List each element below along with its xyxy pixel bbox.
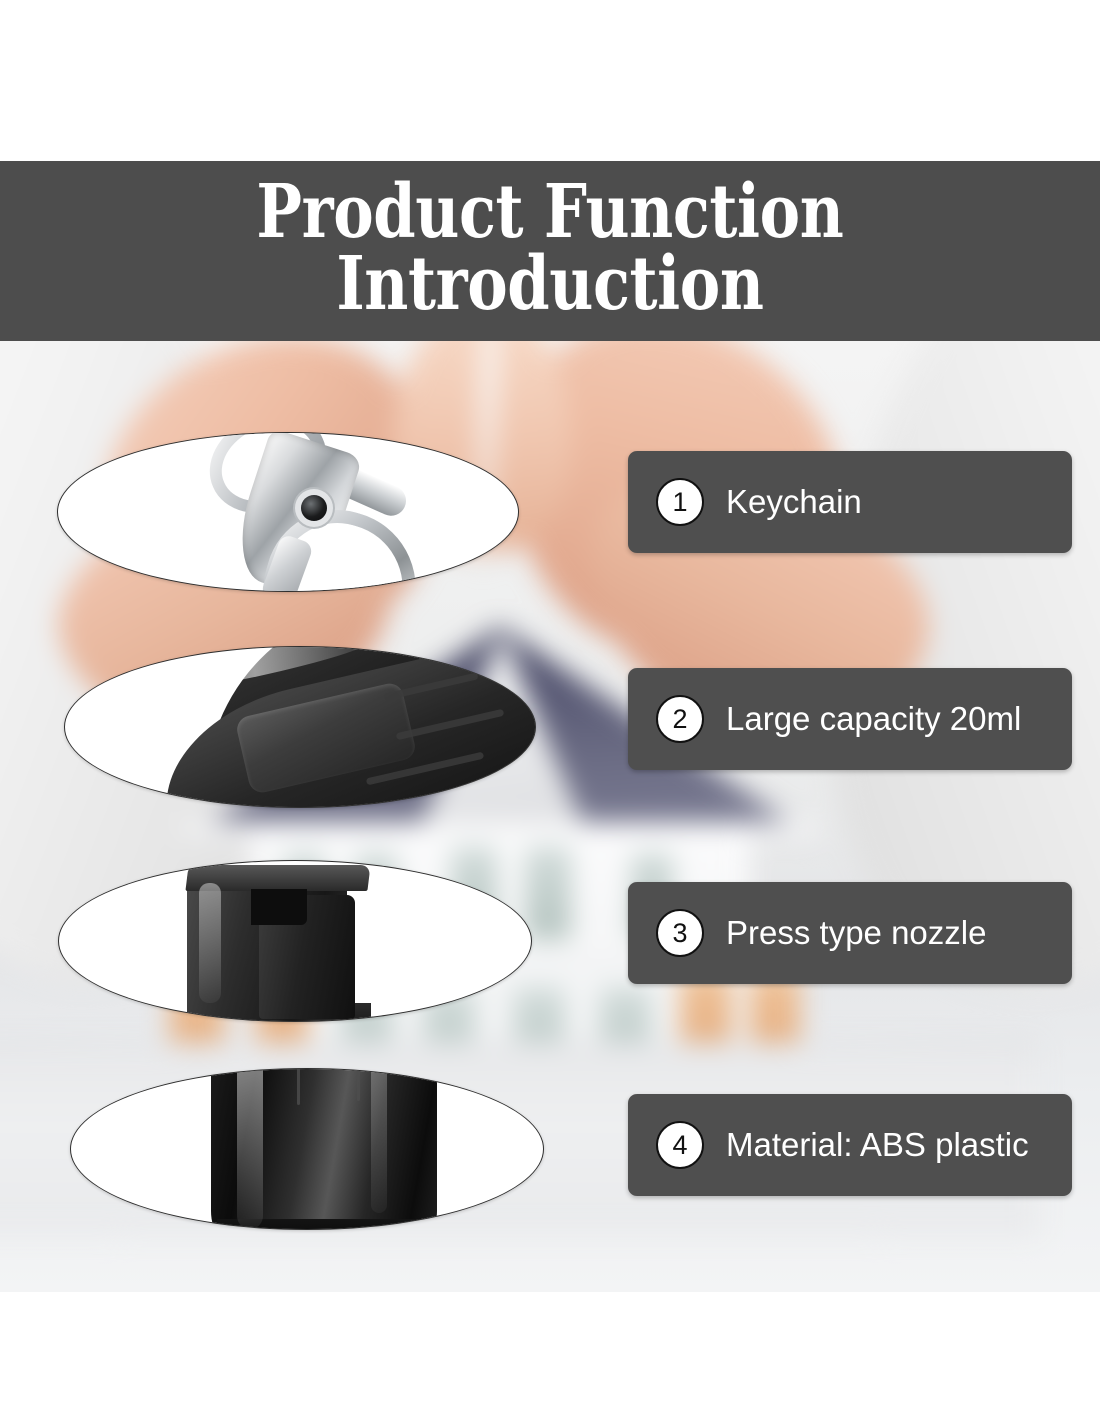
feature-callout-2[interactable]: 2 Large capacity 20ml [628,668,1072,770]
feature-badge-1: 1 [656,478,704,526]
top-white-margin [0,0,1100,161]
feature-callout-4[interactable]: 4 Material: ABS plastic [628,1094,1072,1196]
keychain-clasp-photo [58,433,518,591]
product-scene: 1 Keychain 2 Large capacity 20ml 3 Press… [0,341,1100,1292]
bottle-base-highlight [371,1068,387,1213]
feature-badge-4: 4 [656,1121,704,1169]
bottle-body-photo [65,647,535,807]
feature-badge-3: 3 [656,909,704,957]
feature-label-4: Material: ABS plastic [726,1126,1029,1164]
bottle-base-photo [71,1069,543,1229]
bottle-base-seam [297,1068,300,1105]
feature-badge-2: 2 [656,695,704,743]
feature-image-1 [57,432,519,592]
nozzle-press-notch [251,889,307,925]
clasp-pivot-rivet [301,495,327,521]
bottle-base-highlight [237,1068,263,1229]
feature-callout-3[interactable]: 3 Press type nozzle [628,882,1072,984]
infographic-canvas: Product Function Introduction [0,0,1100,1422]
feature-image-4 [70,1068,544,1230]
feature-label-3: Press type nozzle [726,914,986,952]
press-nozzle-photo [59,861,531,1021]
bottom-white-margin [0,1292,1100,1422]
title-banner: Product Function Introduction [0,161,1100,341]
feature-image-2 [64,646,536,808]
nozzle-highlight [199,883,221,1003]
feature-label-2: Large capacity 20ml [726,700,1021,738]
feature-callout-1[interactable]: 1 Keychain [628,451,1072,553]
page-title: Product Function Introduction [256,177,843,321]
feature-image-3 [58,860,532,1022]
bottle-base-seam [357,1068,360,1101]
feature-label-1: Keychain [726,483,862,521]
